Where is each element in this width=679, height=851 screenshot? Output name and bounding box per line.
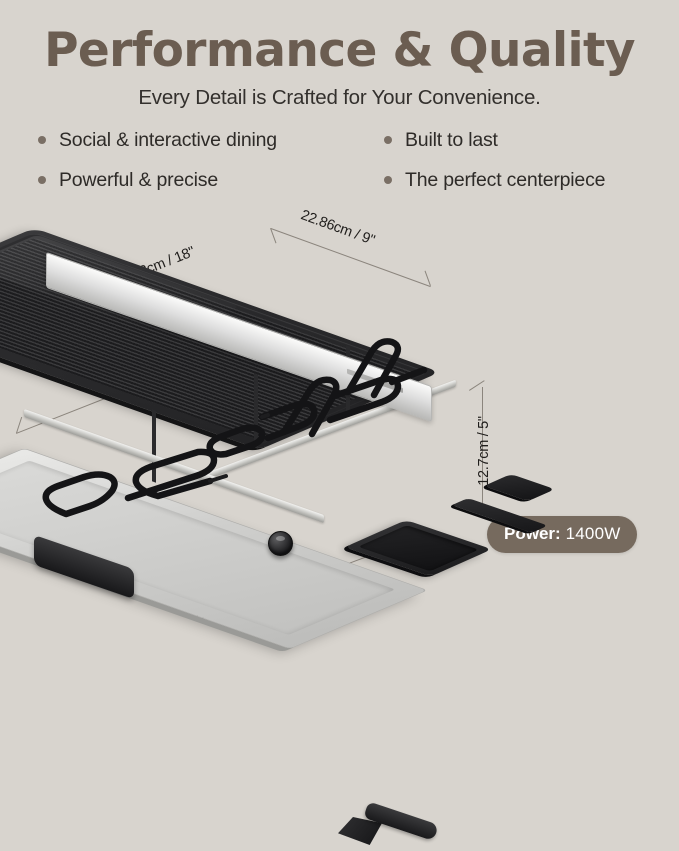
feature-item: The perfect centerpiece [384,169,645,192]
feature-item: Powerful & precise [38,169,384,192]
bullet-dot-icon [384,176,392,184]
bullet-dot-icon [38,136,46,144]
feature-item: Social & interactive dining [38,129,384,152]
page-subtitle: Every Detail is Crafted for Your Conveni… [0,86,679,110]
spatula [338,799,448,851]
bullet-dot-icon [38,176,46,184]
feature-label: The perfect centerpiece [405,169,605,192]
page-title: Performance & Quality [0,26,679,77]
heating-element [0,196,679,682]
header: Performance & Quality Every Detail is Cr… [0,0,679,110]
raclette-pan-handle [452,498,548,533]
feature-label: Powerful & precise [59,169,218,192]
feature-label: Built to last [405,129,498,152]
feature-label: Social & interactive dining [59,129,277,152]
feature-item: Built to last [384,129,645,152]
product-diagram: 45.72cm / 18" 22.86cm / 9" 12.7cm / 5" 5… [0,196,679,682]
raclette-pan [406,492,556,602]
bullet-dot-icon [384,136,392,144]
feature-list: Social & interactive dining Built to las… [0,129,679,192]
